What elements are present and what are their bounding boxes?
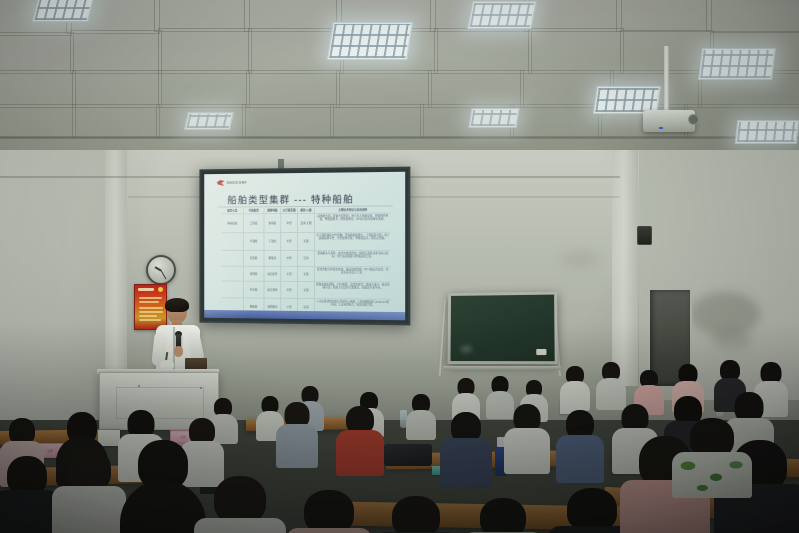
projector-lens-icon: [688, 114, 699, 125]
cell-subtype: 综合调查: [264, 282, 281, 298]
column-header: 主尺度范围: [281, 208, 298, 213]
lecture-hall-photo: SINOCONF 船舶类型集群 --- 特种船舶 船型大类 代表船型 载重吨级 …: [0, 0, 799, 533]
student: [336, 406, 384, 470]
student-front: [286, 490, 372, 533]
chalk-smudge: [460, 345, 472, 353]
slide-logo-text: SINOCONF: [226, 181, 246, 185]
column-header: 载重吨级: [264, 208, 281, 213]
student-torso: [556, 435, 604, 483]
student-torso: [194, 518, 286, 533]
student-head: [304, 490, 354, 533]
chalkboard-assembly: [447, 292, 557, 364]
column-header: 航区/入级: [298, 208, 315, 213]
ceiling-light-panel: [184, 112, 234, 130]
cell-type: 科考船: [244, 282, 265, 298]
cell-size: 大型: [281, 233, 298, 250]
ceiling-projector: [643, 110, 695, 132]
chalk-tray: [443, 366, 561, 370]
cell-category: [222, 267, 244, 281]
student: [596, 362, 626, 408]
cell-type: 工程船: [244, 214, 265, 232]
left-wall: [0, 150, 108, 420]
cell-size: 中型: [281, 282, 298, 298]
ceiling-light-panel: [698, 48, 776, 80]
student: [556, 410, 604, 478]
student: [504, 404, 550, 468]
student-torso: [276, 424, 318, 468]
student-palm-print-shirt: [672, 418, 752, 492]
table-row: 科考船 综合调查 中型 无限 配备多波束测深、CTD取样、实验室舱室；低噪声设计…: [222, 281, 391, 299]
slide-table: 船型大类 代表船型 载重吨级 主尺度范围 航区/入级 主要技术特征与应用说明 特…: [222, 207, 391, 316]
cell-description: 配张紧器与焊接流水线，铺设海底管线；DP-3级动力定位，作业水深可达三千米。: [315, 267, 391, 281]
student-head: [214, 476, 266, 524]
cell-category: [222, 233, 244, 250]
cell-description: 配备耙头与泥泵，航行中吸泥作业；舱容与泥泵功率为核心指标；用于航道疏浚与吹填造地…: [315, 251, 391, 266]
student-front: [194, 476, 286, 533]
cell-subtype: 耙吸式: [264, 251, 281, 266]
student: [440, 412, 492, 482]
student: [560, 366, 590, 410]
student: [276, 402, 318, 464]
column-header: 代表船型: [244, 208, 265, 213]
cell-zone: 无限: [298, 267, 315, 281]
table-row: 半潜船 下潜式 大型 无限 可下潜装载超大件货物；压载系统容量大，下潜深度可控；…: [222, 232, 391, 250]
poster-seal-icon: [158, 287, 163, 292]
ceiling-light-panel: [468, 108, 519, 128]
cell-size: 大型: [281, 267, 298, 281]
student-torso: [336, 430, 384, 476]
cell-category: 特种船舶: [222, 215, 244, 233]
clock-minute-hand-icon: [160, 270, 166, 279]
cell-zone: 无限: [298, 282, 315, 298]
presenter-hair: [165, 298, 189, 312]
cell-size: 中型: [281, 251, 298, 266]
cell-subtype: 下潜式: [264, 233, 281, 250]
cell-category: [222, 282, 244, 298]
cell-type: 挖泥船: [244, 251, 265, 266]
company-logo-icon: [217, 180, 225, 186]
student-torso: [440, 438, 492, 488]
cell-description: 可下潜装载超大件货物；压载系统容量大，下潜深度可控；用于运输钻井平台、大型船体分…: [315, 233, 391, 250]
palm-print-shirt: [672, 452, 752, 498]
student-torso: [52, 486, 126, 533]
structural-column: [105, 150, 127, 400]
projector-status-led-icon: [659, 127, 663, 129]
green-chalkboard: [448, 292, 558, 365]
structural-column: [612, 150, 638, 386]
poster-heading-icon: [138, 288, 154, 291]
cell-description: 配备多波束测深、CTD取样、实验室舱室；低噪声设计，破冰等级可选；续航力与自持力…: [315, 282, 391, 299]
student-torso: [406, 410, 436, 440]
cell-subtype: 重吊船: [264, 214, 281, 232]
ceiling-light-panel: [327, 22, 413, 60]
student-front: [374, 496, 458, 533]
slide-surface: SINOCONF 船舶类型集群 --- 特种船舶 船型大类 代表船型 载重吨级 …: [204, 172, 405, 321]
table-row: 铺管船 动力定位 大型 无限 配张紧器与焊接流水线，铺设海底管线；DP-3级动力…: [222, 266, 391, 282]
student-front: [52, 448, 126, 533]
projector-mount-pole: [664, 46, 669, 112]
table-header-row: 船型大类 代表船型 载重吨级 主尺度范围 航区/入级 主要技术特征与应用说明: [222, 207, 391, 213]
student-front: [462, 498, 544, 533]
column-header: 主要技术特征与应用说明: [315, 207, 391, 213]
cell-subtype: 动力定位: [264, 267, 281, 281]
slide-footer-band: [204, 310, 405, 320]
ceiling-light-panel: [32, 0, 94, 22]
slide-logo: SINOCONF: [217, 180, 247, 186]
cell-description: 起重能力强，配备大型吊机；用于海上风电安装、桥梁构件吊装；甲板面积大，稳性要求高…: [315, 214, 391, 232]
student-front: [0, 456, 60, 533]
projection-screen: SINOCONF 船舶类型集群 --- 特种船舶 船型大类 代表船型 载重吨级 …: [199, 167, 410, 326]
student-head: [480, 498, 526, 533]
cell-category: [222, 251, 244, 266]
presenter-hand: [174, 346, 183, 357]
cell-zone: 沿海: [298, 251, 315, 266]
wall-clock: [146, 255, 176, 285]
cell-type: 半潜船: [244, 233, 265, 250]
column-header: 船型大类: [222, 208, 244, 213]
student: [406, 394, 436, 438]
student-head: [392, 496, 440, 533]
student-torso: [504, 428, 550, 474]
cell-zone: 近海 无限: [298, 214, 315, 232]
cell-size: 中型: [281, 214, 298, 232]
cell-type: 铺管船: [244, 267, 265, 281]
table-row: 挖泥船 耙吸式 中型 沿海 配备耙头与泥泵，航行中吸泥作业；舱容与泥泵功率为核心…: [222, 250, 391, 266]
student-torso: [286, 528, 372, 533]
ceiling-light-panel: [735, 120, 799, 144]
black-laptop-bag: [384, 444, 432, 466]
table-row: 特种船舶 工程船 重吊船 中型 近海 无限 起重能力强，配备大型吊机；用于海上风…: [222, 213, 391, 233]
student-torso: [0, 490, 60, 533]
wall-speaker: [637, 226, 652, 245]
chalk-eraser-icon: [536, 349, 546, 355]
suspended-ceiling: [0, 0, 799, 175]
student-torso: [560, 381, 590, 411]
cell-zone: 无限: [298, 233, 315, 250]
ceiling-light-panel: [467, 1, 536, 29]
slide-title: 船舶类型集群 --- 特种船舶: [227, 192, 354, 207]
